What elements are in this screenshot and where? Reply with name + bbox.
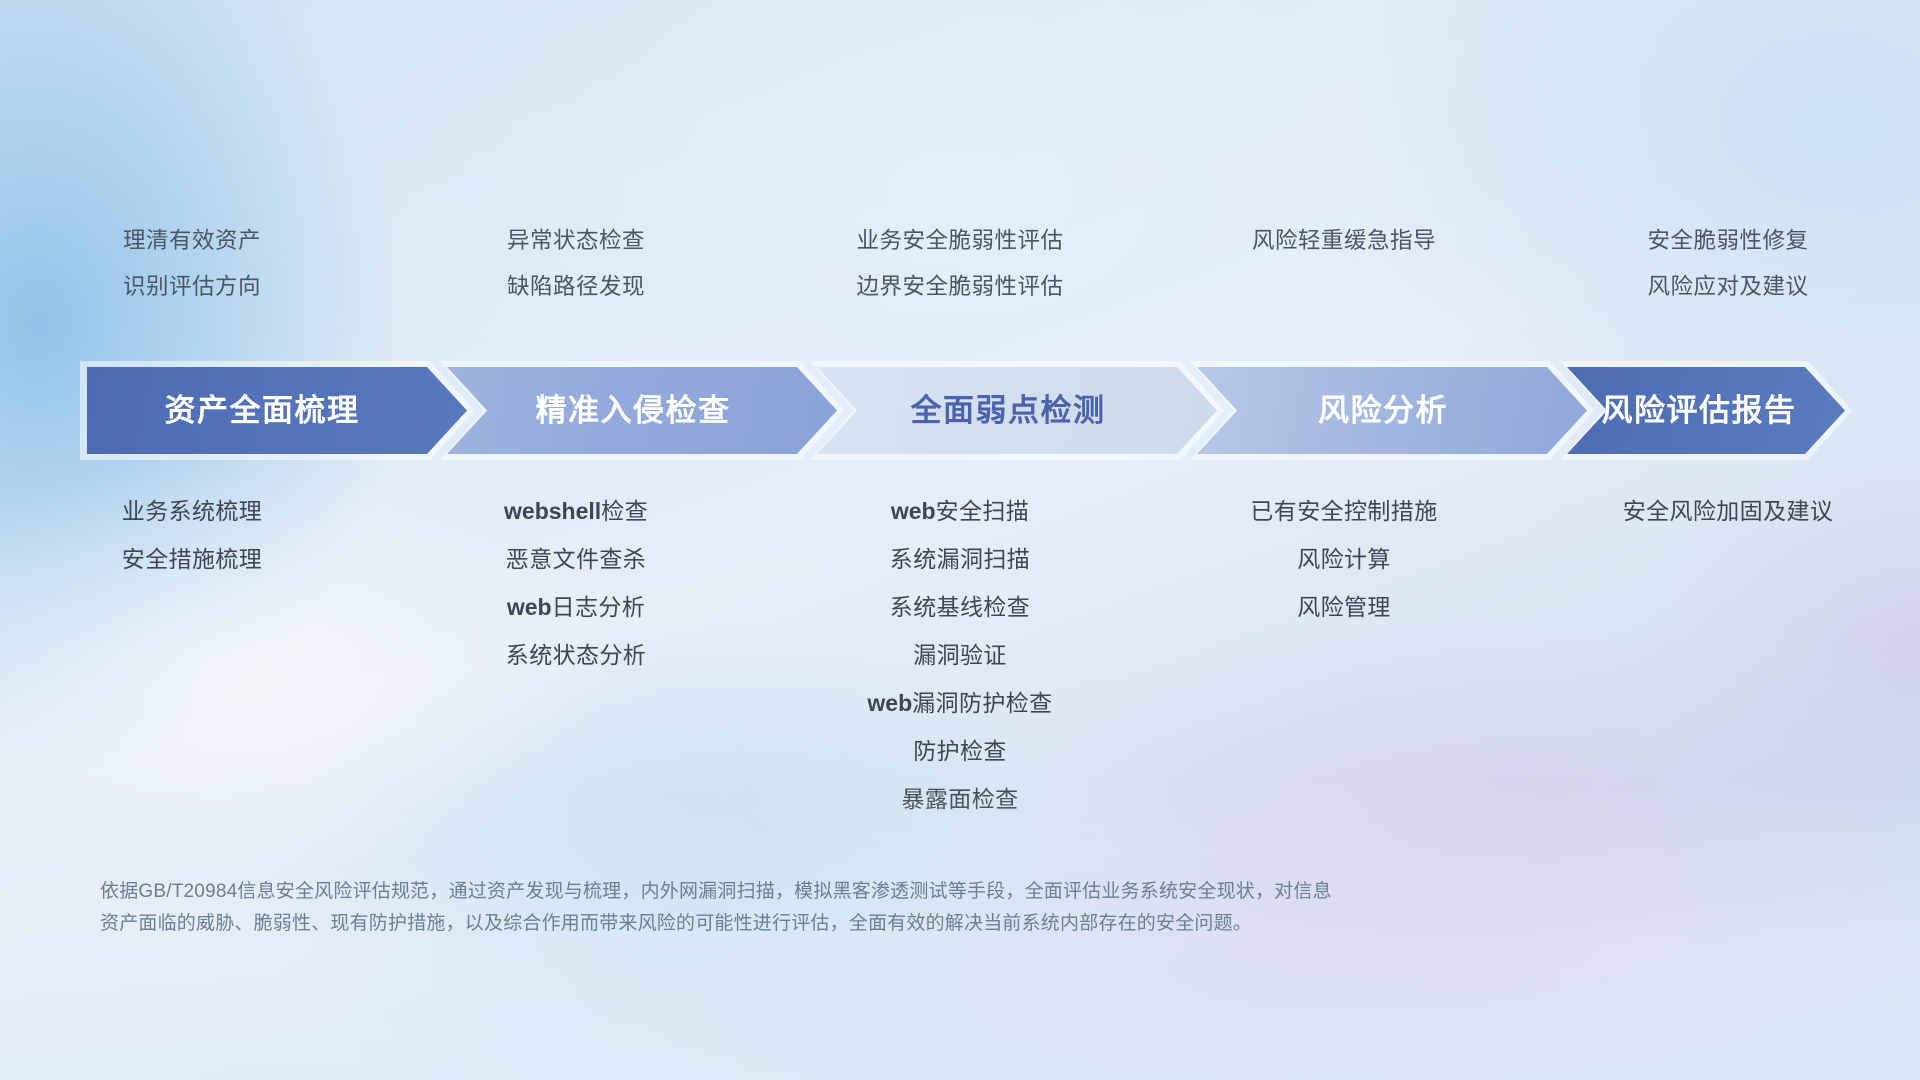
chevron-stage-risk-analysis[interactable]: 风险分析 (1197, 367, 1587, 454)
bottom-item: 恶意文件查杀 (392, 548, 760, 571)
bottom-item: web漏洞防护检查 (776, 692, 1144, 715)
bottom-item: 安全风险加固及建议 (1544, 500, 1912, 523)
top-column-4: 风险轻重缓急指导 (1152, 230, 1536, 321)
chevron-label: 资产全面梳理 (165, 395, 390, 426)
top-list-risk-analysis: 风险轻重缓急指导 (1152, 230, 1536, 253)
bottom-item: 风险管理 (1160, 596, 1528, 619)
bottom-list-risk-analysis: 已有安全控制措施 风险计算 风险管理 (1152, 500, 1536, 619)
latin-term: web (507, 594, 552, 620)
bottom-item: 已有安全控制措施 (1160, 500, 1528, 523)
top-item: 识别评估方向 (10, 276, 374, 299)
bottom-item: 系统基线检查 (776, 596, 1144, 619)
chevron-label: 风险分析 (1318, 395, 1466, 426)
chevron-stage-risk-report[interactable]: 风险评估报告 (1567, 367, 1845, 454)
bottom-item: webshell检查 (392, 500, 760, 523)
chevron-label: 全面弱点检测 (911, 395, 1124, 426)
bottom-column-5: 安全风险加固及建议 (1536, 500, 1920, 836)
bottom-item: 系统状态分析 (392, 644, 760, 667)
bottom-column-3: web安全扫描 系统漏洞扫描 系统基线检查 漏洞验证 web漏洞防护检查 防护检… (768, 500, 1152, 836)
process-chevron-band: 资产全面梳理 精准入侵检查 全面弱点检测 风险分析 风险评估报告 (87, 367, 1845, 454)
bottom-column-4: 已有安全控制措施 风险计算 风险管理 (1152, 500, 1536, 836)
footer-description: 依据GB/T20984信息安全风险评估规范，通过资产发现与梳理，内外网漏洞扫描，… (100, 876, 1660, 940)
latin-term: web (867, 690, 912, 716)
top-list-weakness-detection: 业务安全脆弱性评估 边界安全脆弱性评估 (768, 230, 1152, 298)
bottom-item: 漏洞验证 (776, 644, 1144, 667)
chevron-label: 精准入侵检查 (536, 395, 749, 426)
bottom-list-risk-report: 安全风险加固及建议 (1536, 500, 1920, 523)
bottom-item: web日志分析 (392, 596, 760, 619)
bottom-list-intrusion-check: webshell检查 恶意文件查杀 web日志分析 系统状态分析 (384, 500, 768, 667)
footer-line-2: 资产面临的威胁、脆弱性、现有防护措施，以及综合作用而带来风险的可能性进行评估，全… (100, 908, 1660, 940)
footer-line-1: 依据GB/T20984信息安全风险评估规范，通过资产发现与梳理，内外网漏洞扫描，… (100, 876, 1660, 908)
top-item: 风险应对及建议 (1546, 276, 1910, 299)
top-description-row: 理清有效资产 识别评估方向 异常状态检查 缺陷路径发现 业务安全脆弱性评估 边界… (0, 230, 1920, 321)
top-column-1: 理清有效资产 识别评估方向 (0, 230, 384, 321)
latin-term: webshell (504, 498, 601, 524)
top-column-2: 异常状态检查 缺陷路径发现 (384, 230, 768, 321)
bottom-item: 暴露面检查 (776, 788, 1144, 811)
top-item: 边界安全脆弱性评估 (778, 276, 1142, 299)
chevron-stage-weakness-detection[interactable]: 全面弱点检测 (817, 367, 1217, 454)
bottom-column-2: webshell检查 恶意文件查杀 web日志分析 系统状态分析 (384, 500, 768, 836)
chevron-stage-asset-inventory[interactable]: 资产全面梳理 (87, 367, 467, 454)
bottom-item: 安全措施梳理 (8, 548, 376, 571)
bottom-item: 风险计算 (1160, 548, 1528, 571)
top-column-3: 业务安全脆弱性评估 边界安全脆弱性评估 (768, 230, 1152, 321)
top-item: 理清有效资产 (10, 230, 374, 253)
top-item: 安全脆弱性修复 (1546, 230, 1910, 253)
latin-term: web (891, 498, 936, 524)
top-item: 业务安全脆弱性评估 (778, 230, 1142, 253)
slide-canvas: 理清有效资产 识别评估方向 异常状态检查 缺陷路径发现 业务安全脆弱性评估 边界… (0, 0, 1920, 1080)
chevron-stage-intrusion-check[interactable]: 精准入侵检查 (447, 367, 837, 454)
bottom-column-1: 业务系统梳理 安全措施梳理 (0, 500, 384, 836)
bottom-list-weakness-detection: web安全扫描 系统漏洞扫描 系统基线检查 漏洞验证 web漏洞防护检查 防护检… (768, 500, 1152, 811)
bottom-item: 业务系统梳理 (8, 500, 376, 523)
bottom-item: 系统漏洞扫描 (776, 548, 1144, 571)
top-list-intrusion-check: 异常状态检查 缺陷路径发现 (384, 230, 768, 298)
top-list-asset-inventory: 理清有效资产 识别评估方向 (0, 230, 384, 298)
top-column-5: 安全脆弱性修复 风险应对及建议 (1536, 230, 1920, 321)
bottom-item: web安全扫描 (776, 500, 1144, 523)
bottom-list-asset-inventory: 业务系统梳理 安全措施梳理 (0, 500, 384, 571)
top-list-risk-report: 安全脆弱性修复 风险应对及建议 (1536, 230, 1920, 298)
chevron-label: 风险评估报告 (1602, 395, 1811, 426)
top-item: 风险轻重缓急指导 (1162, 230, 1526, 253)
bottom-item: 防护检查 (776, 740, 1144, 763)
bottom-detail-row: 业务系统梳理 安全措施梳理 webshell检查 恶意文件查杀 web日志分析 … (0, 500, 1920, 836)
top-item: 缺陷路径发现 (394, 276, 758, 299)
top-item: 异常状态检查 (394, 230, 758, 253)
